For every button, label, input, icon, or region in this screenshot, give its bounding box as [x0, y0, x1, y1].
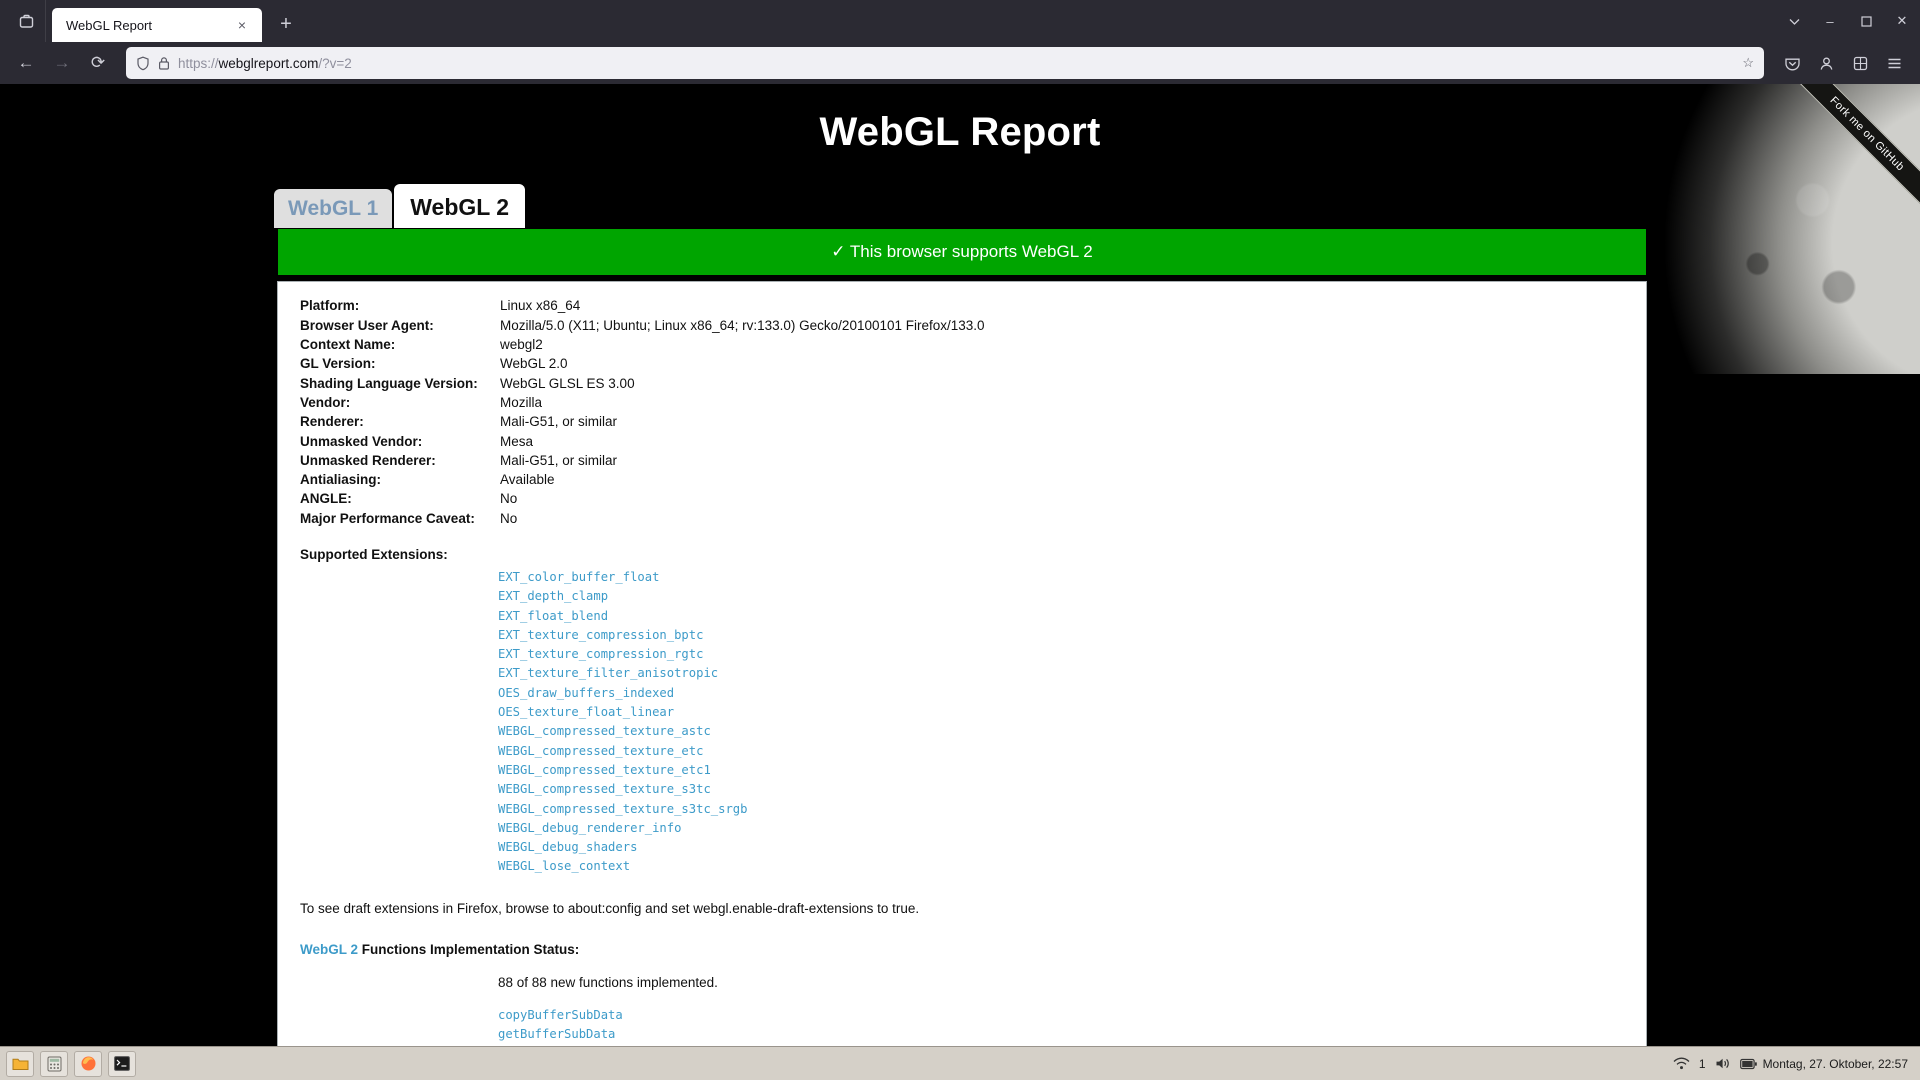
page-title: WebGL Report — [0, 84, 1920, 155]
extension-item[interactable]: OES_texture_float_linear — [498, 703, 990, 722]
info-row: Unmasked Renderer:Mali-G51, or similar — [300, 451, 990, 470]
function-item[interactable]: blitFramebuffer — [498, 1044, 990, 1046]
info-row-value: No — [500, 509, 517, 528]
context-info-column: Platform:Linux x86_64Browser User Agent:… — [290, 294, 990, 1046]
new-tab-button[interactable]: + — [270, 8, 302, 40]
terminal-icon[interactable] — [108, 1051, 136, 1077]
info-row-key: ANGLE: — [300, 489, 500, 508]
function-item[interactable]: copyBufferSubData — [498, 1006, 990, 1025]
maximize-button[interactable] — [1848, 0, 1884, 42]
extension-item[interactable]: WEBGL_compressed_texture_etc1 — [498, 761, 990, 780]
webgl-version-tabs: WebGL 1 WebGL 2 — [273, 183, 1920, 228]
tab-strip: WebGL Report × + – ✕ — [0, 0, 1920, 42]
supported-extensions-label: Supported Extensions: — [300, 547, 990, 562]
info-row: Antialiasing:Available — [300, 470, 990, 489]
navigation-toolbar: ← → ⟳ https://webglreport.com/?v=2 ☆ — [0, 42, 1920, 84]
info-row: Shading Language Version:WebGL GLSL ES 3… — [300, 374, 990, 393]
close-window-button[interactable]: ✕ — [1884, 0, 1920, 42]
window-controls: – ✕ — [1776, 0, 1920, 42]
page-viewport: Fork me on GitHub WebGL Report WebGL 1 W… — [0, 84, 1920, 1046]
network-icon[interactable] — [1673, 1057, 1690, 1070]
volume-icon[interactable] — [1715, 1057, 1731, 1070]
info-row-value: Linux x86_64 — [500, 296, 580, 315]
firefox-icon[interactable] — [74, 1051, 102, 1077]
extension-item[interactable]: WEBGL_lose_context — [498, 857, 990, 876]
info-row-value: Mali-G51, or similar — [500, 451, 617, 470]
app-menu-icon[interactable] — [1878, 47, 1910, 79]
info-row-value: Mozilla/5.0 (X11; Ubuntu; Linux x86_64; … — [500, 316, 985, 335]
reload-icon[interactable]: ⟳ — [82, 47, 114, 79]
info-row: Unmasked Vendor:Mesa — [300, 432, 990, 451]
info-row: ANGLE:No — [300, 489, 990, 508]
functions-implemented-count: 88 of 88 new functions implemented. — [498, 975, 990, 990]
extension-item[interactable]: WEBGL_compressed_texture_s3tc_srgb — [498, 800, 990, 819]
info-row-value: No — [500, 489, 517, 508]
functions-list: copyBufferSubDatagetBufferSubDatablitFra… — [498, 1006, 990, 1046]
context-info-table: Platform:Linux x86_64Browser User Agent:… — [300, 296, 990, 528]
info-row-value: Mozilla — [500, 393, 542, 412]
list-all-tabs-icon[interactable] — [8, 0, 46, 42]
url-host: webglreport.com — [219, 56, 319, 71]
bookmark-star-icon[interactable]: ☆ — [1742, 55, 1754, 71]
info-row: GL Version:WebGL 2.0 — [300, 354, 990, 373]
taskbar-clock: Montag, 27. Oktober, 22:57 — [1763, 1057, 1914, 1071]
forward-icon[interactable]: → — [46, 47, 78, 79]
info-row-key: Platform: — [300, 296, 500, 315]
extension-item[interactable]: WEBGL_debug_shaders — [498, 838, 990, 857]
chevron-down-icon[interactable] — [1776, 0, 1812, 42]
info-row-key: Major Performance Caveat: — [300, 509, 500, 528]
info-row-key: Shading Language Version: — [300, 374, 500, 393]
info-row-value: WebGL 2.0 — [500, 354, 568, 373]
calculator-icon[interactable] — [40, 1051, 68, 1077]
tab-title: WebGL Report — [66, 18, 232, 33]
info-row: Platform:Linux x86_64 — [300, 296, 990, 315]
info-row-value: Mali-G51, or similar — [500, 412, 617, 431]
info-row: Browser User Agent:Mozilla/5.0 (X11; Ubu… — [300, 316, 990, 335]
info-row-value: webgl2 — [500, 335, 543, 354]
functions-status-rest: Functions Implementation Status: — [358, 942, 579, 957]
extension-item[interactable]: EXT_texture_compression_bptc — [498, 626, 990, 645]
info-row-key: Browser User Agent: — [300, 316, 500, 335]
extension-item[interactable]: WEBGL_debug_renderer_info — [498, 819, 990, 838]
report-content: Platform:Linux x86_64Browser User Agent:… — [277, 281, 1647, 1046]
system-tray: 1 — [1673, 1057, 1757, 1071]
extension-item[interactable]: WEBGL_compressed_texture_etc — [498, 742, 990, 761]
info-row-value: Available — [500, 470, 555, 489]
extension-item[interactable]: WEBGL_compressed_texture_astc — [498, 722, 990, 741]
info-row-key: Context Name: — [300, 335, 500, 354]
extensions-icon[interactable] — [1844, 47, 1876, 79]
draft-extensions-note: To see draft extensions in Firefox, brow… — [300, 899, 990, 918]
shield-icon[interactable] — [136, 56, 150, 71]
url-scheme: https:// — [178, 56, 219, 71]
account-icon[interactable] — [1810, 47, 1842, 79]
fork-me-on-github-ribbon[interactable]: Fork me on GitHub — [1760, 84, 1920, 244]
extension-item[interactable]: EXT_float_blend — [498, 607, 990, 626]
info-row: Major Performance Caveat:No — [300, 509, 990, 528]
info-row-key: Unmasked Renderer: — [300, 451, 500, 470]
url-text[interactable]: https://webglreport.com/?v=2 — [178, 56, 1734, 71]
workspace-indicator[interactable]: 1 — [1699, 1057, 1706, 1071]
url-path: /?v=2 — [318, 56, 351, 71]
close-icon[interactable]: × — [232, 15, 252, 35]
pipeline-diagram: Vertex Shader Max Vertex Attributes:16Ma… — [990, 294, 1630, 1046]
extension-item[interactable]: OES_draw_buffers_indexed — [498, 684, 990, 703]
info-row: Renderer:Mali-G51, or similar — [300, 412, 990, 431]
info-row-key: Unmasked Vendor: — [300, 432, 500, 451]
fork-ribbon-label: Fork me on GitHub — [1777, 84, 1920, 224]
webgl2-link[interactable]: WebGL 2 — [300, 942, 358, 957]
info-row: Context Name:webgl2 — [300, 335, 990, 354]
info-row-key: Vendor: — [300, 393, 500, 412]
browser-tab[interactable]: WebGL Report × — [52, 8, 262, 42]
extension-item[interactable]: EXT_texture_compression_rgtc — [498, 645, 990, 664]
toolbar-actions — [1776, 47, 1910, 79]
tab-webgl-2[interactable]: WebGL 2 — [393, 183, 526, 228]
battery-icon[interactable] — [1740, 1058, 1757, 1070]
tab-webgl-1[interactable]: WebGL 1 — [273, 188, 393, 228]
browser-window: WebGL Report × + – ✕ ← → ⟳ https://web — [0, 0, 1920, 1046]
extension-item[interactable]: EXT_texture_filter_anisotropic — [498, 664, 990, 683]
lock-icon[interactable] — [158, 56, 170, 71]
info-row-value: Mesa — [500, 432, 533, 451]
info-row-key: Renderer: — [300, 412, 500, 431]
info-row-key: GL Version: — [300, 354, 500, 373]
desktop-taskbar: 1 Montag, 27. Oktober, 22:57 — [0, 1046, 1920, 1080]
info-row: Vendor:Mozilla — [300, 393, 990, 412]
back-icon[interactable]: ← — [10, 47, 42, 79]
webgl-support-banner: ✓ This browser supports WebGL 2 — [277, 228, 1647, 276]
files-icon[interactable] — [6, 1051, 34, 1077]
supported-extensions-list: EXT_color_buffer_floatEXT_depth_clampEXT… — [498, 568, 990, 877]
extension-item[interactable]: EXT_color_buffer_float — [498, 568, 990, 587]
functions-status-heading: WebGL 2 Functions Implementation Status: — [300, 942, 990, 957]
info-row-value: WebGL GLSL ES 3.00 — [500, 374, 635, 393]
extension-item[interactable]: EXT_depth_clamp — [498, 587, 990, 606]
function-item[interactable]: getBufferSubData — [498, 1025, 990, 1044]
save-to-pocket-icon[interactable] — [1776, 47, 1808, 79]
extension-item[interactable]: WEBGL_compressed_texture_s3tc — [498, 780, 990, 799]
minimize-button[interactable]: – — [1812, 0, 1848, 42]
url-bar[interactable]: https://webglreport.com/?v=2 ☆ — [126, 47, 1764, 79]
info-row-key: Antialiasing: — [300, 470, 500, 489]
